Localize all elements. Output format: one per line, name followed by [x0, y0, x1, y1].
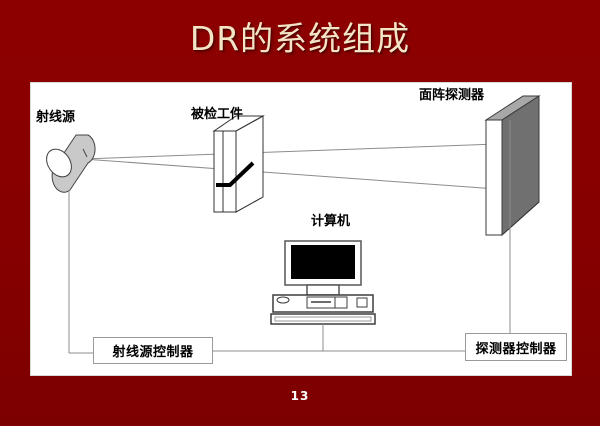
slide: DR的系统组成: [0, 0, 600, 426]
area-detector-icon: [486, 96, 539, 235]
radiation-source-icon: [41, 135, 95, 192]
diagram-panel: 射线源 被检工件 面阵探测器 计算机 射线源控制器 探测器控制器: [30, 82, 572, 376]
computer-icon: [77, 235, 375, 324]
dr-system-diagram: [31, 83, 571, 375]
label-area-detector: 面阵探测器: [419, 89, 484, 102]
label-radiation-source: 射线源: [36, 111, 75, 124]
xray-beam-lines: [83, 144, 497, 189]
workpiece-icon: [214, 116, 263, 212]
label-workpiece: 被检工件: [191, 108, 243, 121]
box-source-controller: 射线源控制器: [93, 337, 213, 364]
label-computer: 计算机: [311, 215, 350, 228]
page-number: 13: [0, 389, 600, 403]
box-detector-controller: 探测器控制器: [465, 333, 567, 361]
page-title: DR的系统组成: [0, 12, 600, 60]
